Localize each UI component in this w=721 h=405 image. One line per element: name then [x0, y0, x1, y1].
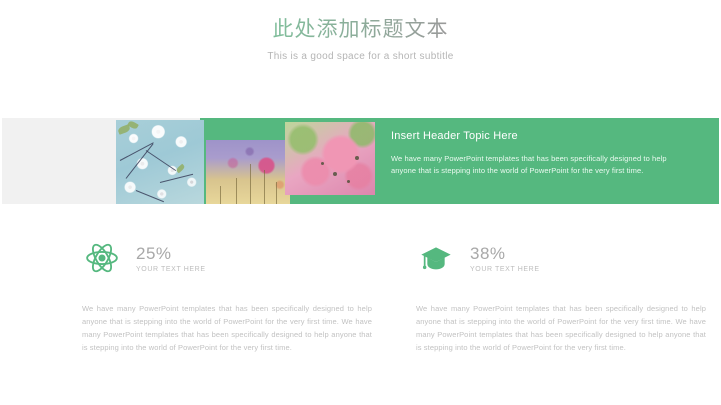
stat-labels-left: 25% YOUR TEXT HERE	[136, 244, 206, 273]
white-daisy-flowers-photo	[116, 120, 204, 204]
atom-icon	[82, 238, 122, 278]
stat-header-right: 38% YOUR TEXT HERE	[416, 236, 706, 280]
page-title: 此处添加标题文本	[0, 16, 721, 44]
stat-caption: YOUR TEXT HERE	[470, 266, 540, 273]
purple-meadow-flower-photo	[206, 140, 290, 204]
stats-section: 25% YOUR TEXT HERE We have many PowerPoi…	[0, 236, 721, 386]
page-subtitle: This is a good space for a short subtitl…	[0, 51, 721, 62]
banner-text-block: Insert Header Topic Here We have many Po…	[391, 130, 683, 177]
stat-column-right: 38% YOUR TEXT HERE We have many PowerPoi…	[416, 236, 706, 362]
stat-body-text: We have many PowerPoint templates that h…	[416, 302, 706, 354]
banner-heading: Insert Header Topic Here	[391, 130, 683, 142]
stat-labels-right: 38% YOUR TEXT HERE	[470, 244, 540, 273]
graduation-cap-icon	[416, 238, 456, 278]
header-banner: Insert Header Topic Here We have many Po…	[2, 118, 719, 204]
stat-header-left: 25% YOUR TEXT HERE	[82, 236, 372, 280]
stat-column-left: 25% YOUR TEXT HERE We have many PowerPoi…	[82, 236, 372, 362]
stat-value: 38%	[470, 244, 540, 263]
photo-collage	[116, 118, 376, 204]
stat-value: 25%	[136, 244, 206, 263]
pink-blossom-photo	[285, 122, 375, 195]
title-block: 此处添加标题文本 This is a good space for a shor…	[0, 16, 721, 62]
stat-caption: YOUR TEXT HERE	[136, 266, 206, 273]
banner-body-text: We have many PowerPoint templates that h…	[391, 153, 683, 177]
stat-body-text: We have many PowerPoint templates that h…	[82, 302, 372, 354]
